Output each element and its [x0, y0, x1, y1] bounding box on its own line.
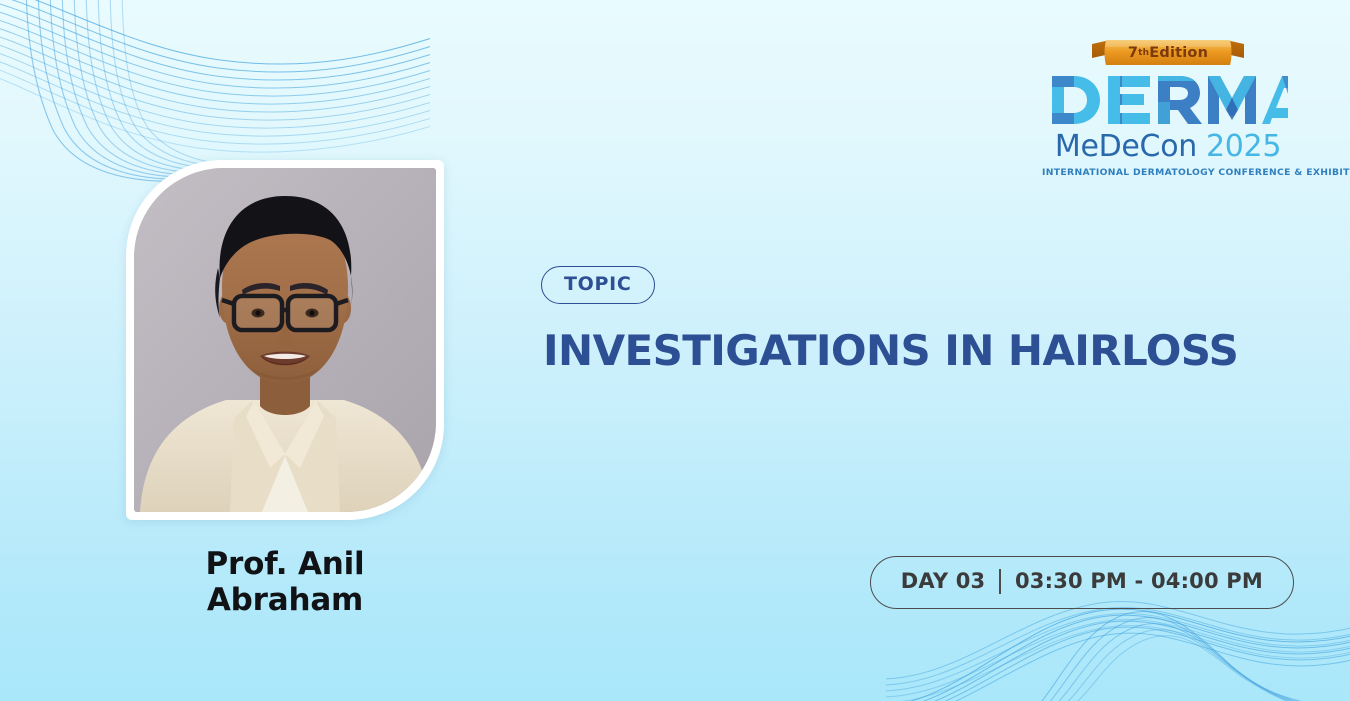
- topic-badge: TOPIC: [541, 266, 655, 304]
- speaker-photo-frame: [126, 160, 444, 520]
- edition-number: 7: [1128, 45, 1138, 61]
- session-time-slot: 03:30 PM - 04:00 PM: [1015, 571, 1263, 592]
- edition-ribbon: 7th Edition: [1092, 38, 1244, 68]
- logo-year: 2025: [1206, 129, 1281, 164]
- derma-wordmark: [1048, 72, 1288, 128]
- medecon-row: MeDeCon 2025: [1042, 129, 1294, 164]
- event-logo: 7th Edition: [1042, 38, 1294, 178]
- speaker-name: Prof. Anil Abraham: [126, 546, 444, 618]
- speaker-portrait-illustration: [134, 168, 436, 512]
- edition-suffix: Edition: [1149, 45, 1208, 61]
- badge-divider: [999, 569, 1001, 594]
- session-title: INVESTIGATIONS IN HAIRLOSS: [543, 328, 1238, 374]
- logo-tagline: INTERNATIONAL DERMATOLOGY CONFERENCE & E…: [1042, 167, 1294, 178]
- edition-ribbon-label: 7th Edition: [1092, 38, 1244, 68]
- medecon-text: MeDeCon: [1055, 129, 1197, 164]
- derma-wordmark-graphic: [1048, 72, 1288, 128]
- edition-ordinal: th: [1138, 48, 1149, 58]
- wave-decoration-top-left: [0, 0, 430, 186]
- speaker-photo: [134, 168, 436, 512]
- session-time-badge: DAY 03 03:30 PM - 04:00 PM: [870, 556, 1294, 609]
- session-day: DAY 03: [901, 571, 986, 592]
